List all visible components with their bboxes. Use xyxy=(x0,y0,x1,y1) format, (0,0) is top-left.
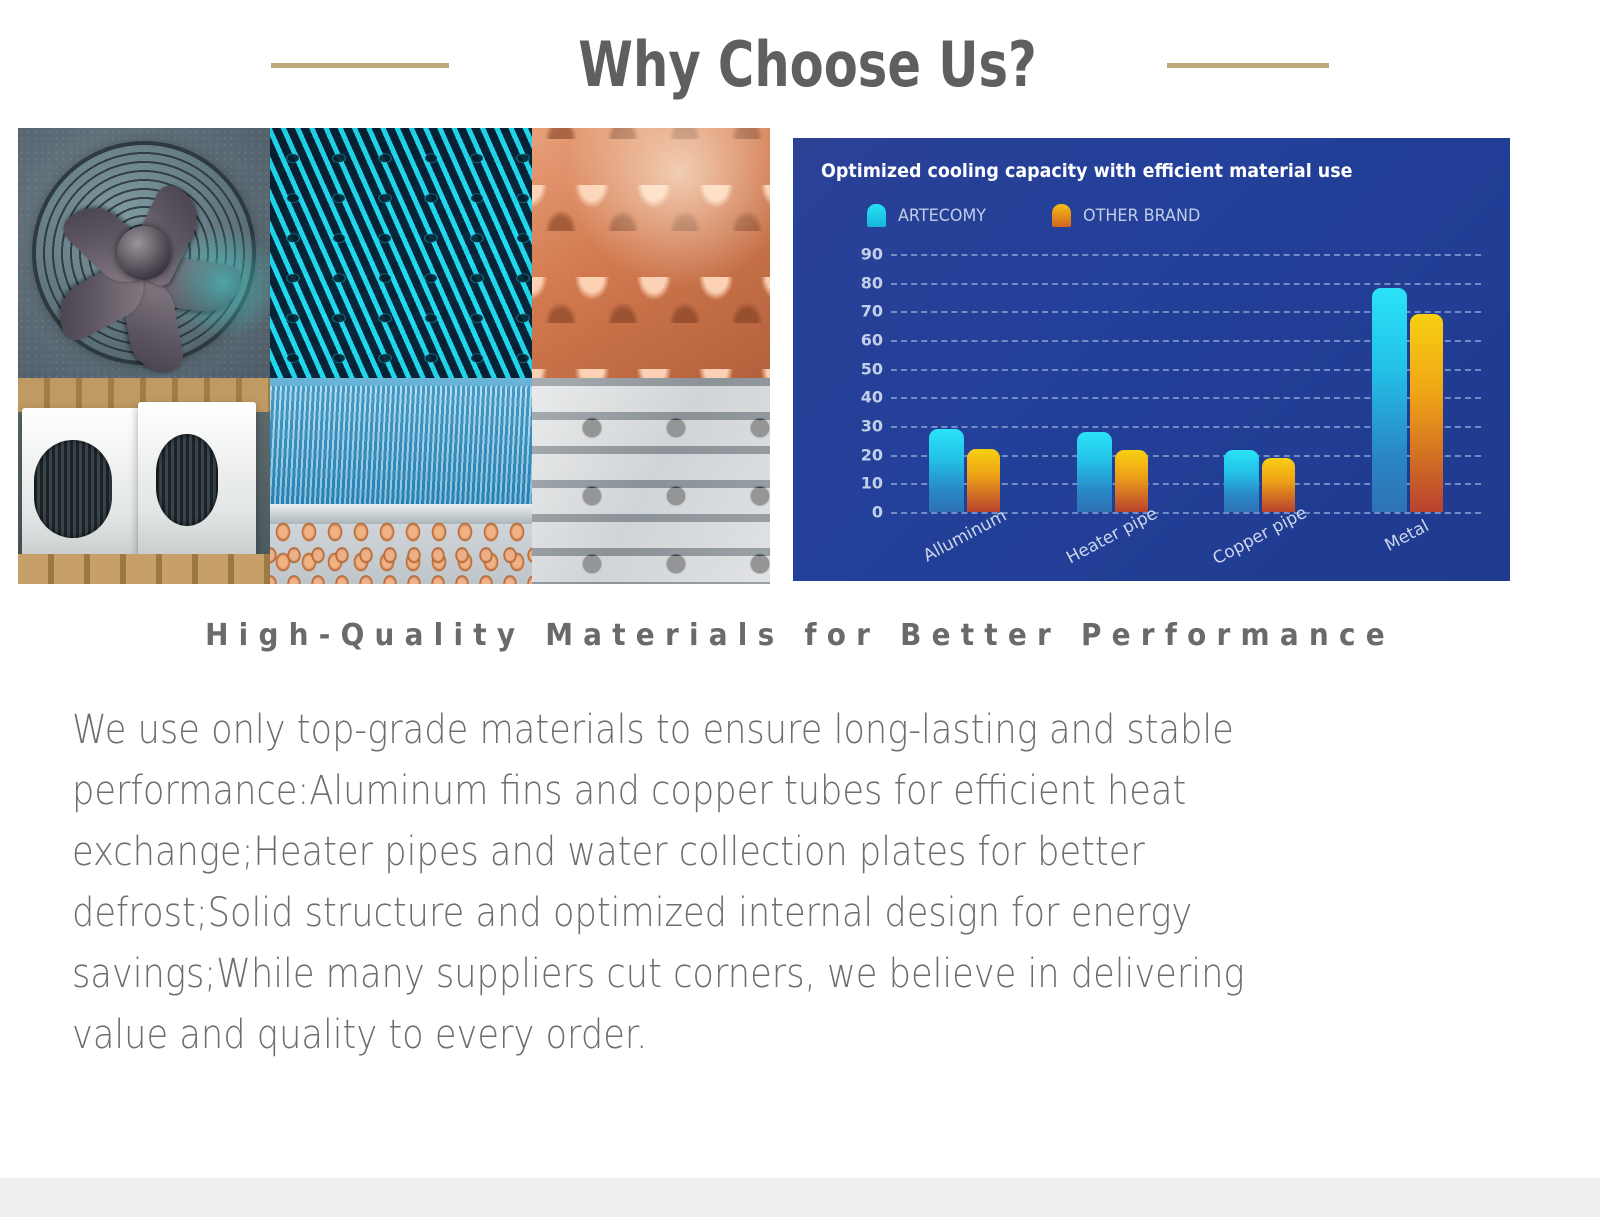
footer-strip xyxy=(0,1178,1600,1217)
y-axis-labels: 9080706050403020100 xyxy=(839,254,883,512)
chart-bars xyxy=(891,254,1481,512)
chart-title: Optimized cooling capacity with efficien… xyxy=(821,160,1353,182)
body-paragraph: We use only top-grade materials to ensur… xyxy=(72,700,1304,1066)
condenser-coil-opening xyxy=(34,440,112,538)
x-axis-group: Heater pipe xyxy=(1039,520,1187,580)
legend-label: ARTECOMY xyxy=(898,206,986,226)
aluminum-fin-stack-photo xyxy=(270,128,532,378)
bar-group xyxy=(1334,254,1482,512)
bar-other-brand xyxy=(1262,458,1295,512)
chart-legend: ARTECOMY OTHER BRAND xyxy=(867,204,1207,227)
bar-group xyxy=(1039,254,1187,512)
axial-fan-photo xyxy=(18,128,270,378)
legend-swatch-icon xyxy=(1052,204,1071,227)
x-axis-group: Copper pipe xyxy=(1186,520,1334,580)
bar-artecomy xyxy=(1224,450,1259,512)
copper-return-bends-row xyxy=(270,544,532,584)
x-axis-labels: AlluminumHeater pipeCopper pipeMetal xyxy=(891,520,1481,580)
copper-tube-bends-photo xyxy=(532,128,770,378)
y-axis-tick-label: 60 xyxy=(861,331,883,350)
y-axis-tick-label: 0 xyxy=(872,503,883,522)
x-axis-group: Metal xyxy=(1334,520,1482,580)
legend-label: OTHER BRAND xyxy=(1083,206,1200,226)
wooden-pallet-bottom xyxy=(18,554,270,584)
cooling-capacity-chart: Optimized cooling capacity with efficien… xyxy=(793,138,1510,581)
x-axis-tick-label: Metal xyxy=(1382,516,1433,556)
section-headline: High-Quality Materials for Better Perfor… xyxy=(56,618,1544,653)
bar-artecomy xyxy=(929,429,964,512)
y-axis-tick-label: 40 xyxy=(861,388,883,407)
tube-sheet-holes xyxy=(532,378,770,584)
legend-swatch-icon xyxy=(867,204,886,227)
bar-other-brand xyxy=(1410,314,1443,512)
page-title: Why Choose Us? xyxy=(579,33,1037,97)
bar-other-brand xyxy=(967,449,1000,512)
bar-group xyxy=(1186,254,1334,512)
bar-artecomy xyxy=(1372,288,1407,512)
y-axis-tick-label: 10 xyxy=(861,474,883,493)
y-axis-tick-label: 30 xyxy=(861,417,883,436)
y-axis-tick-label: 90 xyxy=(861,245,883,264)
chart-plot-area: 9080706050403020100 xyxy=(891,254,1481,512)
fin-tube-holes xyxy=(270,128,532,378)
x-axis-group: Alluminum xyxy=(891,520,1039,580)
legend-item-artecomy: ARTECOMY xyxy=(867,204,992,227)
title-row: Why Choose Us? xyxy=(0,22,1600,108)
slide-page: Why Choose Us? xyxy=(0,0,1600,1217)
condenser-units-photo xyxy=(18,378,270,584)
metal-tube-sheet-photo xyxy=(532,378,770,584)
blue-fin-surface xyxy=(270,386,532,504)
fan-hub xyxy=(117,226,171,280)
title-decoration-right xyxy=(1167,63,1329,68)
y-axis-tick-label: 20 xyxy=(861,445,883,464)
y-axis-tick-label: 50 xyxy=(861,359,883,378)
bar-other-brand xyxy=(1115,450,1148,512)
bar-artecomy xyxy=(1077,432,1112,512)
legend-item-other-brand: OTHER BRAND xyxy=(1052,204,1208,227)
y-axis-tick-label: 70 xyxy=(861,302,883,321)
product-photo-collage xyxy=(18,128,770,584)
media-row: Optimized cooling capacity with efficien… xyxy=(0,128,1600,584)
fin-coil-photo xyxy=(270,378,532,584)
gridline xyxy=(891,512,1481,514)
copper-highlight xyxy=(532,128,770,378)
x-axis-tick-label: Alluminum xyxy=(920,506,1010,566)
condenser-coil-opening xyxy=(156,434,218,526)
bar-group xyxy=(891,254,1039,512)
title-decoration-left xyxy=(271,63,449,68)
y-axis-tick-label: 80 xyxy=(861,273,883,292)
